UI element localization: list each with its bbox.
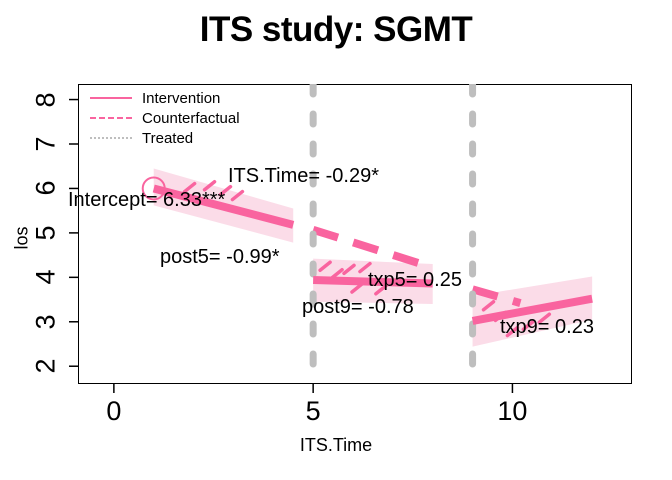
y-tick-label: 6	[33, 181, 60, 196]
y-tick-label: 5	[33, 225, 60, 240]
legend-item-treated: Treated	[90, 128, 260, 148]
chart-legend: InterventionCounterfactualTreated	[90, 88, 260, 148]
x-axis-label: ITS.Time	[0, 435, 672, 456]
legend-item-counterfactual: Counterfactual	[90, 108, 260, 128]
y-tick-label: 8	[33, 92, 60, 107]
legend-line-swatch	[90, 117, 132, 119]
y-tick-label: 7	[33, 136, 60, 151]
x-tick-label: 0	[106, 398, 121, 425]
txp9-label: txp9= 0.23	[500, 317, 594, 337]
post5-label: post5= -0.99*	[160, 247, 280, 267]
its-time-label: ITS.Time= -0.29*	[228, 166, 379, 186]
legend-line-swatch	[90, 97, 132, 99]
page-title: ITS study: SGMT	[0, 10, 672, 50]
y-tick-label: 2	[33, 359, 60, 374]
y-tick-label: 4	[33, 270, 60, 285]
x-tick-label: 10	[497, 398, 527, 425]
y-tick-label: 3	[33, 314, 60, 329]
intercept-label: Intercept= 6.33***	[68, 190, 225, 210]
legend-item-label: Counterfactual	[142, 110, 240, 127]
legend-line-swatch	[90, 137, 132, 139]
post9-label: post9= -0.78	[302, 297, 414, 317]
legend-item-intervention: Intervention	[90, 88, 260, 108]
legend-item-label: Intervention	[142, 90, 220, 107]
y-axis-label: los	[12, 226, 33, 249]
x-tick-label: 5	[306, 398, 321, 425]
legend-item-label: Treated	[142, 130, 193, 147]
its-chart-figure: ITS study: SGMT 23456780510 los ITS.Time…	[0, 0, 672, 480]
txp5-label: txp5= 0.25	[368, 270, 462, 290]
